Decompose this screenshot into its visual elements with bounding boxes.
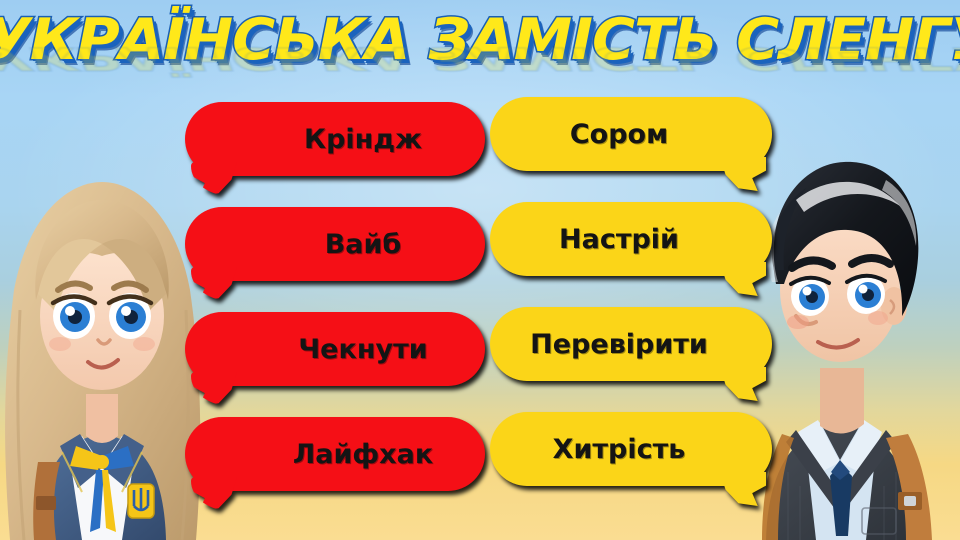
slang-bubble-2[interactable]: Чекнути: [185, 312, 485, 386]
ukrainian-bubble-2[interactable]: Перевірити: [490, 307, 772, 381]
bubble-tail-icon: [191, 372, 237, 406]
ukrainian-bubble-0[interactable]: Сором: [490, 97, 772, 171]
slang-label-2: Чекнути: [298, 334, 427, 365]
bubble-tail-icon: [720, 262, 766, 296]
bubble-tail-icon: [720, 367, 766, 401]
bubble-tail-icon: [720, 157, 766, 191]
bubble-tail-icon: [191, 162, 237, 196]
ukrainian-label-0: Сором: [570, 119, 668, 150]
bubble-tail-icon: [191, 267, 237, 301]
ukrainian-bubble-1[interactable]: Настрій: [490, 202, 772, 276]
slang-bubble-1[interactable]: Вайб: [185, 207, 485, 281]
slang-label-0: Кріндж: [304, 124, 422, 155]
slang-label-1: Вайб: [325, 229, 402, 260]
ukrainian-label-3: Хитрість: [553, 434, 686, 465]
bubble-tail-icon: [191, 477, 237, 511]
slang-bubble-3[interactable]: Лайфхак: [185, 417, 485, 491]
page-title-text: УКРАЇНСЬКА ЗАМІСТЬ СЛЕНГУ: [0, 8, 960, 72]
slang-label-3: Лайфхак: [293, 439, 433, 470]
page-title: УКРАЇНСЬКА ЗАМІСТЬ СЛЕНГУ УКРАЇНСЬКА ЗАМ…: [0, 8, 960, 100]
ukrainian-bubble-3[interactable]: Хитрість: [490, 412, 772, 486]
ukrainian-label-2: Перевірити: [530, 329, 708, 360]
slang-bubble-0[interactable]: Кріндж: [185, 102, 485, 176]
bubble-tail-icon: [720, 472, 766, 506]
ukrainian-label-1: Настрій: [559, 224, 679, 255]
